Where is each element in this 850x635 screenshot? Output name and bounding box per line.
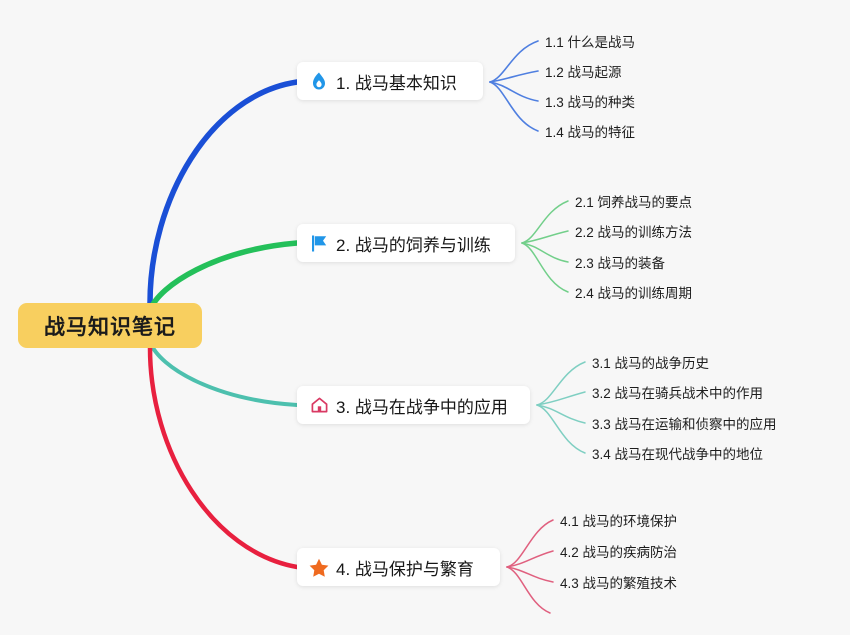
main-link-4 — [150, 348, 297, 567]
main-link-3 — [150, 342, 297, 405]
leaf-node-3-1[interactable]: 3.1 战马的战争历史 — [592, 357, 709, 371]
leaf-node-2-4[interactable]: 2.4 战马的训练周期 — [575, 287, 692, 301]
flame-icon — [309, 71, 329, 91]
main-link-1 — [150, 82, 297, 303]
root-node[interactable]: 战马知识笔记 — [18, 303, 202, 348]
leaf-link-3-2 — [537, 392, 585, 405]
leaf-node-3-3[interactable]: 3.3 战马在运输和侦察中的应用 — [592, 418, 777, 432]
leaf-link-2-4 — [522, 243, 568, 292]
leaf-node-1-1[interactable]: 1.1 什么是战马 — [545, 36, 635, 50]
leaf-link-2-2 — [522, 231, 568, 243]
mindmap-canvas: 战马知识笔记 1. 战马基本知识 2. 战马的饲养与训练 3. 战马在战争中的应… — [0, 0, 850, 635]
leaf-node-1-4[interactable]: 1.4 战马的特征 — [545, 126, 635, 140]
branch-node-2-label: 2. 战马的饲养与训练 — [336, 231, 491, 256]
leaf-link-1-2 — [490, 71, 538, 82]
leaf-node-3-2[interactable]: 3.2 战马在骑兵战术中的作用 — [592, 387, 763, 401]
branch-node-1-label: 1. 战马基本知识 — [336, 69, 457, 94]
leaf-link-1-1 — [490, 41, 538, 82]
leaf-node-4-2[interactable]: 4.2 战马的疾病防治 — [560, 546, 677, 560]
leaf-link-4-1 — [507, 520, 553, 567]
branch-node-4[interactable]: 4. 战马保护与繁育 — [297, 548, 500, 586]
leaf-node-2-3[interactable]: 2.3 战马的装备 — [575, 257, 665, 271]
branch-node-3-label: 3. 战马在战争中的应用 — [336, 393, 508, 418]
leaf-link-4-3 — [507, 567, 553, 582]
branch-node-1[interactable]: 1. 战马基本知识 — [297, 62, 483, 100]
leaf-link-2-1 — [522, 201, 568, 243]
branch-node-3[interactable]: 3. 战马在战争中的应用 — [297, 386, 530, 424]
leaf-node-2-2[interactable]: 2.2 战马的训练方法 — [575, 226, 692, 240]
flag-icon — [309, 233, 329, 253]
leaf-link-3-1 — [537, 362, 585, 405]
leaf-link-3-4 — [537, 405, 585, 453]
leaf-link-1-3 — [490, 82, 538, 101]
leaf-node-3-4[interactable]: 3.4 战马在现代战争中的地位 — [592, 448, 763, 462]
leaf-link-1-4 — [490, 82, 538, 131]
branch-node-4-label: 4. 战马保护与繁育 — [336, 555, 474, 580]
leaf-node-1-3[interactable]: 1.3 战马的种类 — [545, 96, 635, 110]
leaf-link-3-3 — [537, 405, 585, 423]
leaf-link-4-2 — [507, 551, 553, 567]
leaf-link-4-4 — [507, 567, 550, 613]
root-node-label: 战马知识笔记 — [44, 311, 176, 341]
leaf-node-1-2[interactable]: 1.2 战马起源 — [545, 66, 622, 80]
leaf-node-2-1[interactable]: 2.1 饲养战马的要点 — [575, 196, 692, 210]
leaf-node-4-3[interactable]: 4.3 战马的繁殖技术 — [560, 577, 677, 591]
house-icon — [309, 395, 329, 415]
leaf-node-4-1[interactable]: 4.1 战马的环境保护 — [560, 515, 677, 529]
main-link-2 — [150, 243, 297, 310]
branch-node-2[interactable]: 2. 战马的饲养与训练 — [297, 224, 515, 262]
leaf-link-2-3 — [522, 243, 568, 262]
star-icon — [309, 557, 329, 577]
